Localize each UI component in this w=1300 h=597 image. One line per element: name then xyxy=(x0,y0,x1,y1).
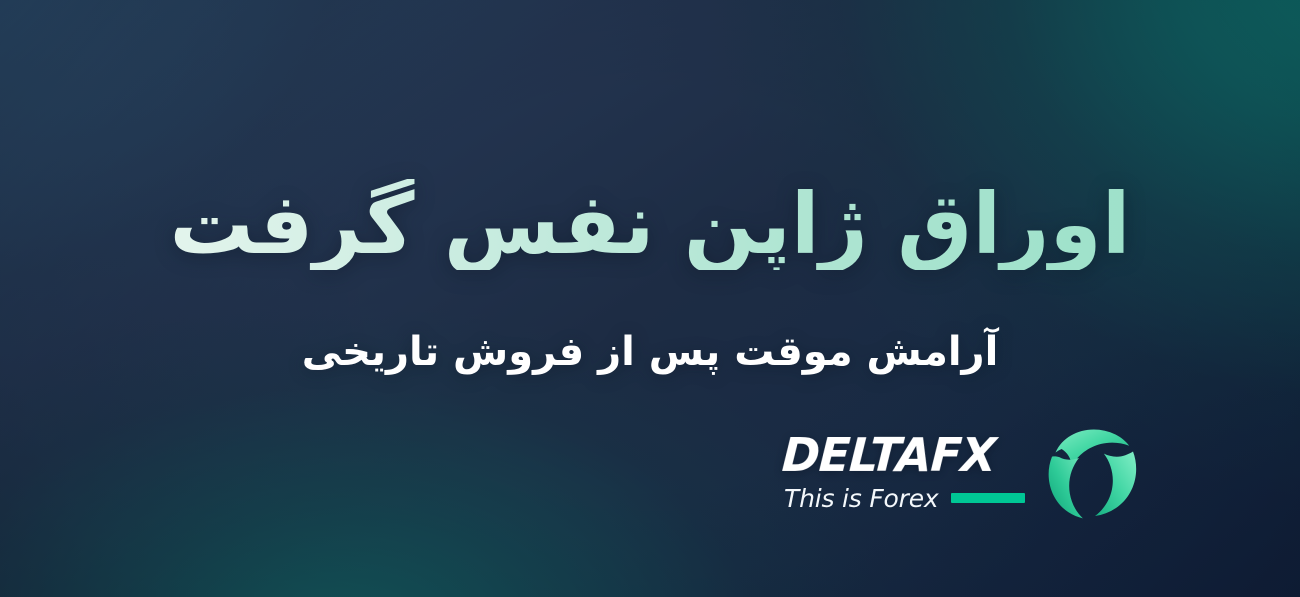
accent-bar xyxy=(951,493,1025,503)
page-title: اوراق ژاپن نفس گرفت xyxy=(0,179,1300,270)
brand-wordmark-group: DELTAFX This is Forex xyxy=(782,430,1025,511)
page-subtitle: آرامش موقت پس از فروش تاریخی xyxy=(0,327,1300,377)
banner-canvas: اوراق ژاپن نفس گرفت آرامش موقت پس از فرو… xyxy=(0,0,1300,597)
delta-swirl-icon xyxy=(1041,420,1141,520)
brand-tagline-row: This is Forex xyxy=(782,486,1025,511)
brand-logo-lockup[interactable]: DELTAFX This is Forex xyxy=(782,420,1141,520)
brand-tagline: This is Forex xyxy=(784,486,938,511)
brand-wordmark: DELTAFX xyxy=(781,432,997,478)
